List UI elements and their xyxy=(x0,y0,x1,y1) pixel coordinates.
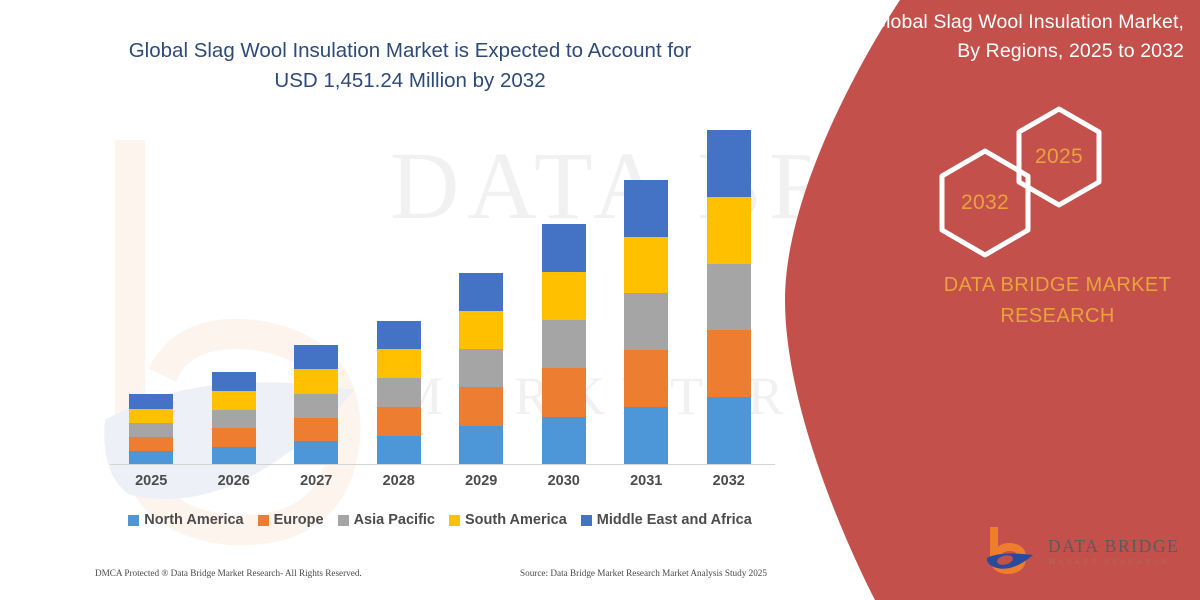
bar-segment[interactable] xyxy=(294,345,338,369)
bar-segment[interactable] xyxy=(212,372,256,390)
bar-segment[interactable] xyxy=(129,437,173,451)
bar-segment[interactable] xyxy=(542,272,586,319)
hexagon-2025-label: 2025 xyxy=(1035,145,1083,169)
bar-segment[interactable] xyxy=(459,349,503,388)
bar-segment[interactable] xyxy=(624,293,668,350)
bar-segment[interactable] xyxy=(624,237,668,293)
x-axis-label-2027: 2027 xyxy=(294,473,338,499)
bar-column-2032[interactable] xyxy=(707,130,751,465)
bar-segment[interactable] xyxy=(459,426,503,465)
bar-segment[interactable] xyxy=(707,197,751,264)
legend-swatch-icon xyxy=(258,515,269,526)
x-axis-label-2029: 2029 xyxy=(459,473,503,499)
bar-segment[interactable] xyxy=(129,409,173,423)
bar-segment[interactable] xyxy=(377,407,421,436)
brand-logo-text: DATA BRIDGE MARKET RESEARCH xyxy=(1048,536,1179,568)
x-axis-label-2026: 2026 xyxy=(212,473,256,499)
bar-column-2025[interactable] xyxy=(129,394,173,465)
bar-segment[interactable] xyxy=(542,417,586,465)
panel-brand-text: DATA BRIDGE MARKET RESEARCH xyxy=(935,270,1180,332)
brand-logo-sub: MARKET RESEARCH xyxy=(1048,556,1179,568)
bar-segment[interactable] xyxy=(707,330,751,397)
bar-segment[interactable] xyxy=(294,369,338,394)
bars-row xyxy=(110,130,770,465)
legend-label: Europe xyxy=(274,512,324,528)
right-panel-title: Global Slag Wool Insulation Market, By R… xyxy=(836,8,1184,66)
bar-column-2028[interactable] xyxy=(377,321,421,465)
bar-segment[interactable] xyxy=(377,378,421,407)
legend-label: Asia Pacific xyxy=(354,512,435,528)
stacked-bar-chart xyxy=(110,130,770,465)
legend-swatch-icon xyxy=(581,515,592,526)
bar-segment[interactable] xyxy=(294,394,338,418)
x-axis-label-2032: 2032 xyxy=(707,473,751,499)
legend-item-south-america[interactable]: South America xyxy=(449,512,567,528)
bar-segment[interactable] xyxy=(294,441,338,465)
legend-label: North America xyxy=(144,512,243,528)
bar-segment[interactable] xyxy=(212,428,256,446)
footer-source: Source: Data Bridge Market Research Mark… xyxy=(520,568,767,578)
hexagon-2032-label: 2032 xyxy=(961,191,1009,215)
bar-segment[interactable] xyxy=(129,394,173,409)
bar-segment[interactable] xyxy=(624,350,668,407)
legend-item-europe[interactable]: Europe xyxy=(258,512,324,528)
x-axis-label-2025: 2025 xyxy=(129,473,173,499)
bar-column-2030[interactable] xyxy=(542,224,586,465)
chart-area: DATA BRIDGE MARKET RESEARCH Global Slag … xyxy=(0,0,810,600)
bar-segment[interactable] xyxy=(542,320,586,368)
legend-swatch-icon xyxy=(338,515,349,526)
x-axis-label-2031: 2031 xyxy=(624,473,668,499)
chart-legend: North AmericaEuropeAsia PacificSouth Ame… xyxy=(105,512,775,528)
bar-segment[interactable] xyxy=(459,311,503,349)
legend-item-middle-east-and-africa[interactable]: Middle East and Africa xyxy=(581,512,752,528)
footer: DMCA Protected ® Data Bridge Market Rese… xyxy=(95,568,785,578)
legend-swatch-icon xyxy=(449,515,460,526)
bar-column-2026[interactable] xyxy=(212,372,256,465)
bar-segment[interactable] xyxy=(624,180,668,237)
brand-logo-main: DATA BRIDGE xyxy=(1048,536,1179,556)
bar-segment[interactable] xyxy=(129,423,173,437)
page-title: Global Slag Wool Insulation Market is Ex… xyxy=(60,36,760,96)
bar-column-2031[interactable] xyxy=(624,180,668,465)
x-axis-label-2028: 2028 xyxy=(377,473,421,499)
bar-segment[interactable] xyxy=(294,418,338,442)
legend-label: South America xyxy=(465,512,567,528)
bar-segment[interactable] xyxy=(212,410,256,428)
bar-segment[interactable] xyxy=(707,264,751,331)
bar-column-2029[interactable] xyxy=(459,273,503,465)
bar-segment[interactable] xyxy=(459,387,503,426)
hexagon-2025: 2025 xyxy=(1013,105,1105,209)
bar-segment[interactable] xyxy=(707,397,751,465)
bar-segment[interactable] xyxy=(377,321,421,349)
legend-swatch-icon xyxy=(128,515,139,526)
bar-segment[interactable] xyxy=(542,368,586,416)
infographic-root: DATA BRIDGE MARKET RESEARCH Global Slag … xyxy=(0,0,1200,600)
bar-segment[interactable] xyxy=(212,391,256,410)
x-axis-line xyxy=(110,464,775,465)
bar-segment[interactable] xyxy=(377,349,421,378)
bar-segment[interactable] xyxy=(707,130,751,197)
data-bridge-logo-icon xyxy=(985,527,1041,577)
bar-column-2027[interactable] xyxy=(294,345,338,465)
bar-segment[interactable] xyxy=(212,447,256,465)
bar-segment[interactable] xyxy=(542,224,586,272)
legend-item-asia-pacific[interactable]: Asia Pacific xyxy=(338,512,435,528)
x-axis-label-2030: 2030 xyxy=(542,473,586,499)
bar-segment[interactable] xyxy=(624,407,668,465)
legend-label: Middle East and Africa xyxy=(597,512,752,528)
x-axis-labels: 20252026202720282029203020312032 xyxy=(110,473,770,499)
bar-segment[interactable] xyxy=(459,273,503,311)
bar-segment[interactable] xyxy=(377,436,421,465)
brand-logo: DATA BRIDGE MARKET RESEARCH xyxy=(985,522,1190,582)
legend-item-north-america[interactable]: North America xyxy=(128,512,243,528)
footer-copyright: DMCA Protected ® Data Bridge Market Rese… xyxy=(95,568,362,578)
bar-segment[interactable] xyxy=(129,451,173,465)
